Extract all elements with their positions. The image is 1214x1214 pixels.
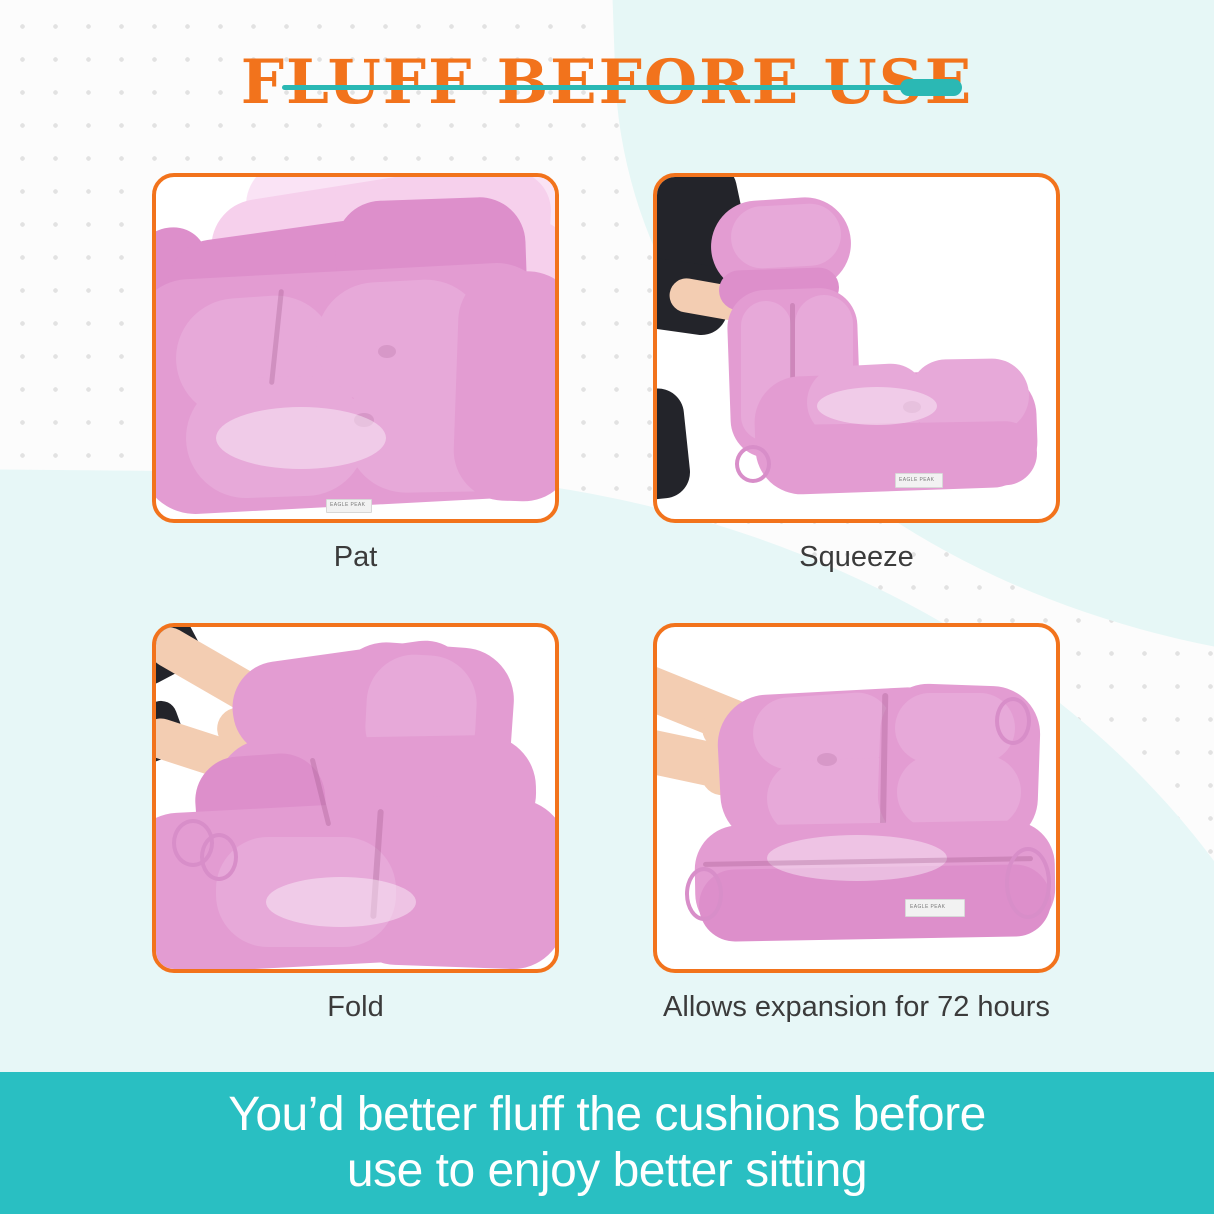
step-caption-1: Pat <box>152 541 559 574</box>
tuft-point-1 <box>378 345 396 358</box>
corner-strap <box>735 445 771 483</box>
photo-frame-4: EAGLE PEAK <box>653 623 1060 973</box>
banner-line-1: You’d better fluff the cushions before <box>228 1087 986 1143</box>
product-tag-label-2: EAGLE PEAK <box>899 478 934 483</box>
step-card-1: EAGLE PEAK Pat <box>152 173 559 523</box>
photo-frame-1: EAGLE PEAK <box>152 173 559 523</box>
banner-line-2: use to enjoy better sitting <box>347 1143 867 1199</box>
step-caption-4: Allows expansion for 72 hours <box>533 991 1180 1024</box>
fold-sheen <box>266 877 416 927</box>
steps-grid: EAGLE PEAK Pat <box>152 173 1062 973</box>
title-underline <box>282 77 962 97</box>
expansion-strap-right-top <box>995 697 1031 745</box>
product-tag-label-1: EAGLE PEAK <box>330 503 365 508</box>
infographic-page: FLUFF BEFORE USE <box>0 0 1214 1214</box>
photo-frame-3 <box>152 623 559 973</box>
cushion-bundle-highlight <box>729 202 842 270</box>
step-card-4: EAGLE PEAK Allows expansion for 72 hours <box>653 623 1060 973</box>
step-card-2: EAGLE PEAK Squeeze <box>653 173 1060 523</box>
expansion-strap-right-bottom <box>1005 847 1051 919</box>
seat-flat-highlight <box>817 387 937 425</box>
photo-squeeze: EAGLE PEAK <box>657 177 1056 519</box>
cushion-right-edge <box>452 269 559 503</box>
top-right-puff-b <box>897 755 1021 829</box>
underline-cap <box>900 79 962 96</box>
photo-frame-2: EAGLE PEAK <box>653 173 1060 523</box>
photo-fold <box>156 627 555 969</box>
photo-pat: EAGLE PEAK <box>156 177 555 519</box>
underline-bar <box>282 85 922 90</box>
fold-strap-b <box>200 833 238 881</box>
step-card-3: Fold <box>152 623 559 973</box>
step-caption-2: Squeeze <box>653 541 1060 574</box>
expansion-strap-left <box>685 867 723 921</box>
tuft-point-4 <box>817 753 837 766</box>
bottom-banner: You’d better fluff the cushions before u… <box>0 1072 1214 1214</box>
seat-highlight <box>216 407 386 469</box>
product-tag-label-4: EAGLE PEAK <box>910 905 945 910</box>
product-tag-1: EAGLE PEAK <box>326 499 372 513</box>
step-caption-3: Fold <box>152 991 559 1024</box>
product-tag-2: EAGLE PEAK <box>895 473 943 488</box>
photo-expansion: EAGLE PEAK <box>657 627 1056 969</box>
sleeve-lower-body <box>653 386 693 502</box>
product-tag-4: EAGLE PEAK <box>905 899 965 917</box>
